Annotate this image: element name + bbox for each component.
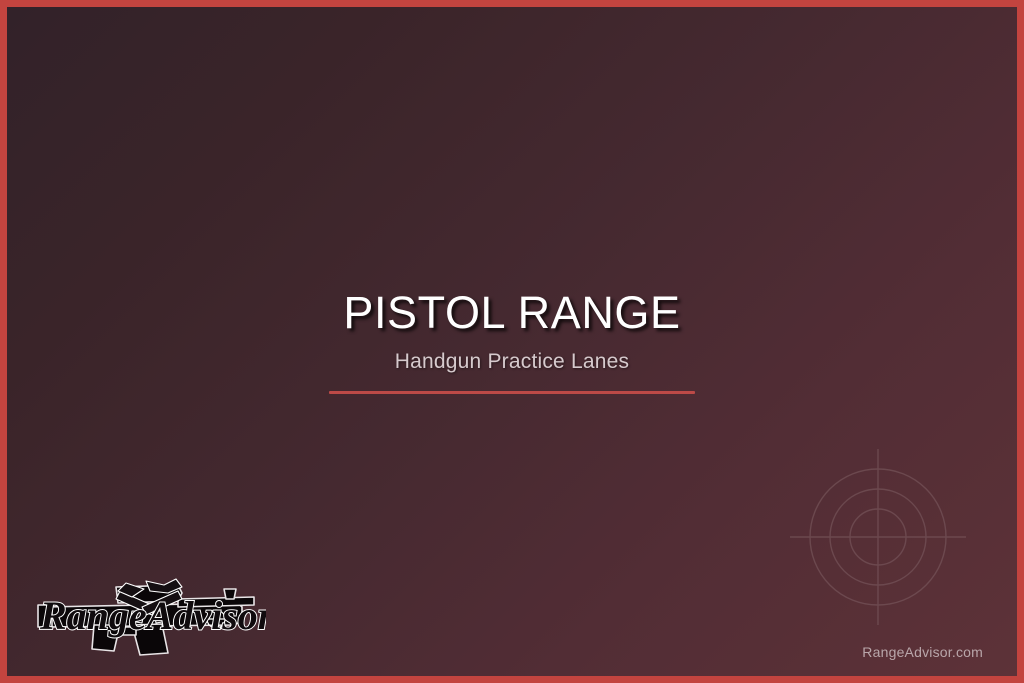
website-label: RangeAdvisor.com: [862, 644, 983, 660]
accent-divider: [329, 391, 695, 394]
page-subtitle: Handgun Practice Lanes: [7, 350, 1017, 374]
presentation-slide: PISTOL RANGE Handgun Practice Lanes Rang…: [0, 0, 1024, 683]
slide-canvas: PISTOL RANGE Handgun Practice Lanes Rang…: [7, 7, 1017, 676]
page-title: PISTOL RANGE: [7, 289, 1017, 336]
title-block: PISTOL RANGE Handgun Practice Lanes: [7, 289, 1017, 394]
brand-logo: RangeAdvisor: [28, 561, 266, 661]
target-crosshair-icon: [778, 437, 978, 637]
brand-wordmark: RangeAdvisor: [39, 593, 266, 638]
